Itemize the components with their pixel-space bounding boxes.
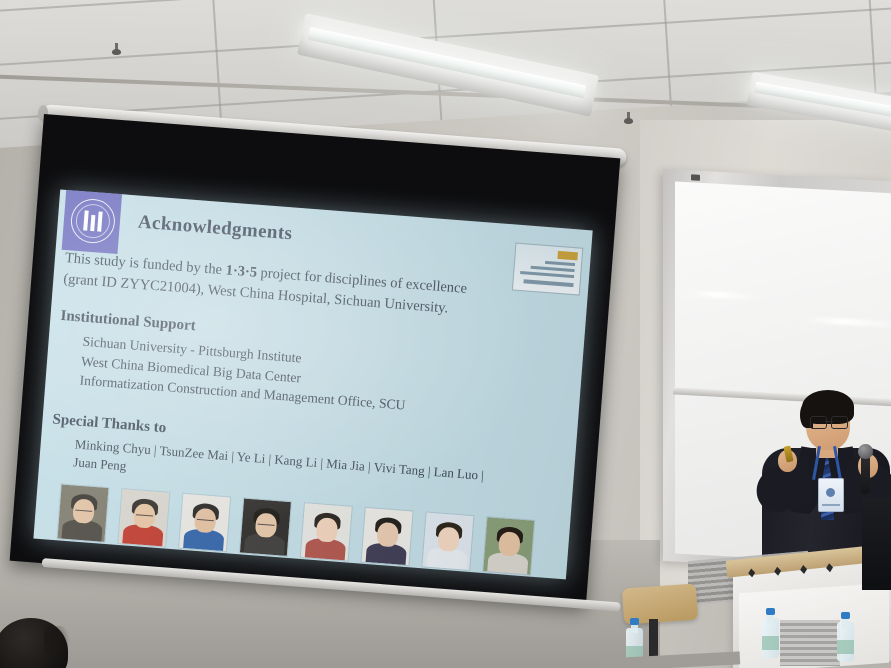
screen-surface: Acknowledgments This study is funded by … [10, 114, 621, 605]
microphone-icon[interactable] [858, 444, 873, 459]
projection-screen: Acknowledgments This study is funded by … [36, 96, 636, 576]
portrait-photo [362, 508, 413, 565]
slide-title: Acknowledgments [137, 212, 293, 246]
seal-monogram-icon [83, 210, 102, 231]
whiteboard-clip [691, 174, 700, 180]
portrait-photo [422, 513, 473, 570]
portrait-photo [483, 517, 534, 574]
seal-ring-icon [69, 197, 116, 244]
institutional-support-list: Sichuan University - Pittsburgh Institut… [79, 332, 409, 416]
portrait-photo [301, 503, 352, 560]
lectern-side-vent [780, 620, 840, 666]
portrait-photo [240, 498, 291, 555]
funding-program-name: 1·3·5 [225, 262, 258, 280]
conference-room-photo: Acknowledgments This study is funded by … [0, 0, 891, 668]
microphone-handle[interactable] [861, 456, 870, 494]
sprinkler-head-left [112, 43, 121, 56]
scupi-seal-logo [62, 189, 123, 254]
portrait-photo [179, 494, 230, 551]
presentation-slide: Acknowledgments This study is funded by … [33, 189, 592, 579]
water-bottle-3 [837, 612, 854, 662]
audience-hair-wisps [44, 626, 70, 660]
portrait-photo [57, 484, 108, 541]
dark-equipment [862, 498, 891, 590]
portrait-photo [118, 489, 169, 546]
special-thanks-heading: Special Thanks to [52, 412, 167, 438]
conference-name-badge [818, 478, 844, 512]
water-bottle-2 [762, 608, 779, 658]
eyeglasses-icon [810, 416, 848, 427]
institutional-support-heading: Institutional Support [60, 308, 196, 335]
